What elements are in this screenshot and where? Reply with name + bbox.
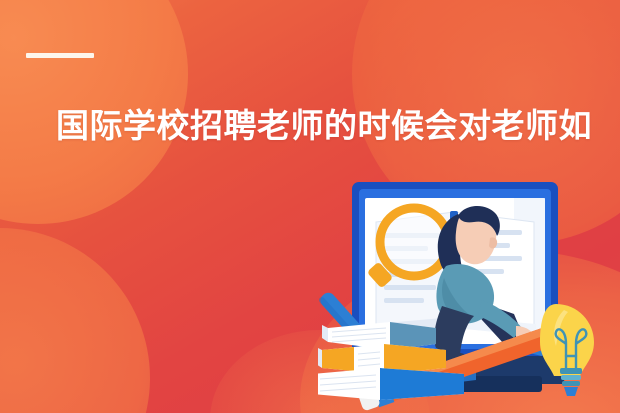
book-blue [318, 368, 464, 400]
banner-card: 国际学校招聘老师的时候会对老师如 [0, 0, 620, 413]
bulb-base [560, 368, 582, 396]
study-research-illustration [318, 178, 620, 413]
page-title: 国际学校招聘老师的时候会对老师如 [56, 104, 620, 148]
accent-rule [26, 53, 94, 58]
